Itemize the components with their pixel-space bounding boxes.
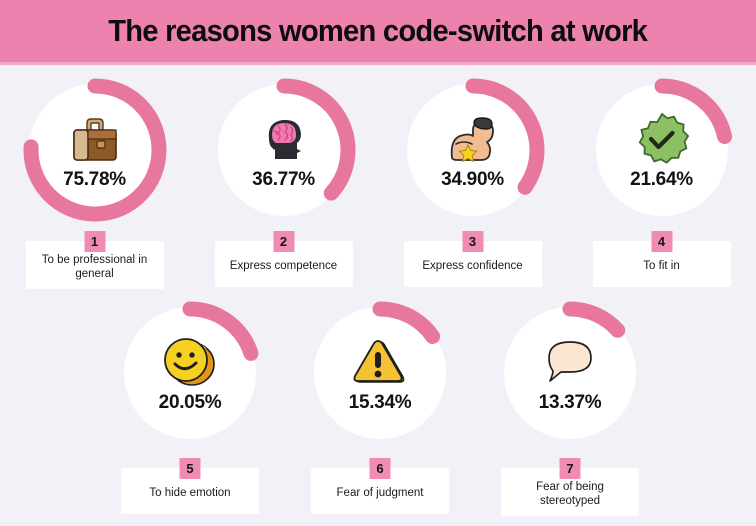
smiley-mask-icon bbox=[159, 333, 221, 391]
speech-bubble-icon bbox=[539, 333, 601, 391]
stat-card: 15.34%Fear of judgment6 bbox=[285, 298, 475, 513]
donut-center: 15.34% bbox=[305, 298, 455, 448]
rank-badge: 7 bbox=[560, 458, 581, 479]
header-bar: The reasons women code-switch at work bbox=[0, 0, 756, 62]
reason-label-text: To fit in bbox=[643, 259, 679, 273]
donut-center: 20.05% bbox=[115, 298, 265, 448]
donut-gauge: 21.64% bbox=[587, 75, 737, 225]
flexed-bicep-icon bbox=[442, 110, 504, 168]
percentage-value: 21.64% bbox=[630, 169, 693, 191]
donut-gauge: 13.37% bbox=[495, 298, 645, 448]
rank-badge: 2 bbox=[273, 231, 294, 252]
reason-label-text: To be professional in general bbox=[32, 253, 158, 281]
reason-label-text: Fear of judgment bbox=[337, 486, 424, 500]
stat-card: 20.05%To hide emotion5 bbox=[95, 298, 285, 513]
percentage-value: 34.90% bbox=[441, 169, 504, 191]
briefcase-icon bbox=[64, 110, 126, 168]
percentage-value: 75.78% bbox=[63, 169, 126, 191]
donut-center: 21.64% bbox=[587, 75, 737, 225]
percentage-value: 15.34% bbox=[349, 392, 412, 414]
donut-gauge: 20.05% bbox=[115, 298, 265, 448]
rank-badge: 6 bbox=[370, 458, 391, 479]
donut-center: 75.78% bbox=[20, 75, 170, 225]
percentage-value: 36.77% bbox=[252, 169, 315, 191]
donut-center: 36.77% bbox=[209, 75, 359, 225]
donut-gauge: 36.77% bbox=[209, 75, 359, 225]
reason-label-text: Express confidence bbox=[422, 259, 522, 273]
stat-card: 36.77%Express competence2 bbox=[189, 75, 378, 290]
card-row-bottom: 20.05%To hide emotion5 15.34%Fear of jud… bbox=[0, 298, 756, 518]
card-row-top: 75.78%To be professional in general1 36.… bbox=[0, 75, 756, 290]
donut-gauge: 15.34% bbox=[305, 298, 455, 448]
reason-label-text: Express competence bbox=[230, 259, 337, 273]
donut-center: 34.90% bbox=[398, 75, 548, 225]
cards-area: 75.78%To be professional in general1 36.… bbox=[0, 65, 756, 526]
warning-triangle-icon bbox=[349, 333, 411, 391]
rank-badge: 3 bbox=[462, 231, 483, 252]
reason-label-text: To hide emotion bbox=[149, 486, 230, 500]
stat-card: 21.64%To fit in4 bbox=[567, 75, 756, 290]
percentage-value: 20.05% bbox=[159, 392, 222, 414]
donut-gauge: 34.90% bbox=[398, 75, 548, 225]
rank-badge: 5 bbox=[180, 458, 201, 479]
green-check-badge-icon bbox=[631, 110, 693, 168]
donut-center: 13.37% bbox=[495, 298, 645, 448]
brain-head-icon bbox=[253, 110, 315, 168]
rank-badge: 1 bbox=[84, 231, 105, 252]
stat-card: 34.90%Express confidence3 bbox=[378, 75, 567, 290]
page-title: The reasons women code-switch at work bbox=[109, 13, 648, 49]
donut-gauge: 75.78% bbox=[20, 75, 170, 225]
reason-label-text: Fear of being stereotyped bbox=[507, 480, 633, 508]
percentage-value: 13.37% bbox=[539, 392, 602, 414]
stat-card: 75.78%To be professional in general1 bbox=[0, 75, 189, 290]
rank-badge: 4 bbox=[651, 231, 672, 252]
stat-card: 13.37%Fear of being stereotyped7 bbox=[475, 298, 665, 513]
